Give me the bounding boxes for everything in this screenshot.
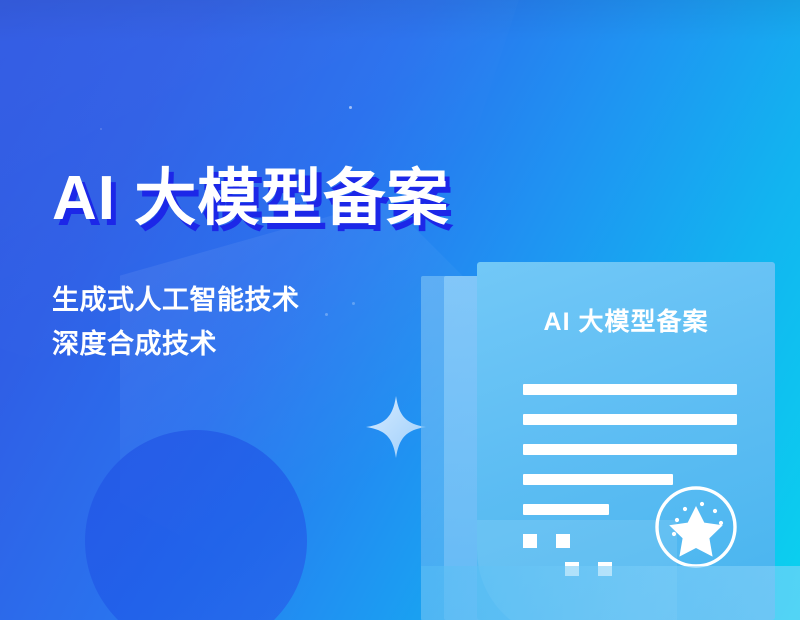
decor-dot (349, 106, 352, 109)
subtitle-block: 生成式人工智能技术 深度合成技术 (52, 279, 452, 366)
page-title: AI 大模型备案 (52, 166, 452, 233)
card-title: AI 大模型备案 (477, 302, 775, 338)
four-point-sparkle-icon (366, 396, 426, 458)
top-shade-band (0, 0, 800, 42)
ai-model-filing-banner: AI 大模型备案 生成式人工智能技术 深度合成技术 AI 大模型备案 (0, 0, 800, 620)
subtitle-line-2: 深度合成技术 (52, 323, 452, 367)
decor-dot (100, 128, 102, 130)
headline-block: AI 大模型备案 生成式人工智能技术 深度合成技术 (52, 166, 452, 366)
card-line (523, 414, 737, 425)
card-line (523, 384, 737, 395)
card-foot-strip (421, 566, 800, 620)
card-line (523, 504, 609, 515)
subtitle-line-1: 生成式人工智能技术 (52, 279, 452, 323)
background-circle (85, 430, 307, 620)
card-line (523, 444, 737, 455)
card-line (523, 474, 673, 485)
